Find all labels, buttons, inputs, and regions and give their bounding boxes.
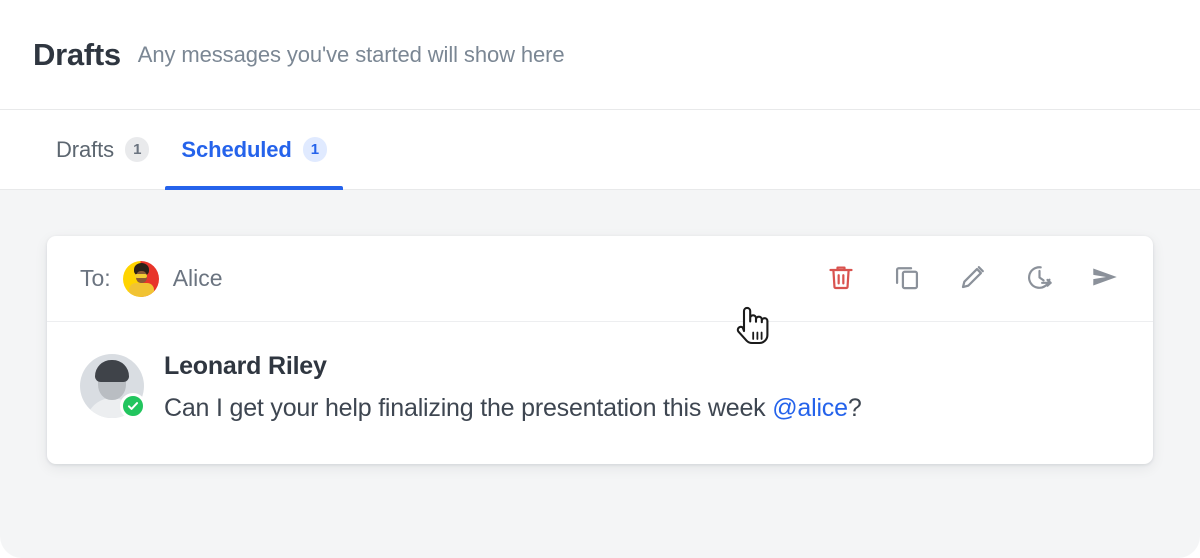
avatar-body bbox=[129, 283, 154, 297]
page-title: Drafts bbox=[33, 37, 121, 73]
delete-button[interactable] bbox=[823, 261, 859, 297]
tab-scheduled[interactable]: Scheduled 1 bbox=[165, 110, 343, 189]
tab-scheduled-label: Scheduled bbox=[181, 137, 291, 163]
avatar-sunglasses bbox=[135, 274, 147, 278]
card-header: To: Alice bbox=[47, 236, 1153, 322]
content-area: To: Alice bbox=[0, 190, 1200, 558]
card-body: Leonard Riley Can I get your help finali… bbox=[47, 322, 1153, 464]
delete-icon bbox=[827, 263, 855, 294]
app-window: Drafts Any messages you've started will … bbox=[0, 0, 1200, 558]
tab-scheduled-badge: 1 bbox=[303, 137, 327, 162]
sender-name: Leonard Riley bbox=[164, 352, 862, 381]
send-now-button[interactable] bbox=[1087, 261, 1123, 297]
avatar-alice bbox=[123, 261, 159, 297]
avatar-leonard-wrap bbox=[80, 354, 144, 418]
schedule-icon bbox=[1025, 263, 1054, 295]
message-column: Leonard Riley Can I get your help finali… bbox=[164, 350, 862, 424]
page-header: Drafts Any messages you've started will … bbox=[0, 0, 1200, 110]
edit-button[interactable] bbox=[955, 261, 991, 297]
mention-link[interactable]: @alice bbox=[772, 394, 848, 422]
send-icon bbox=[1090, 262, 1120, 295]
page-subtitle: Any messages you've started will show he… bbox=[138, 42, 565, 68]
status-badge-verified bbox=[120, 393, 146, 419]
copy-icon bbox=[893, 263, 921, 294]
tab-bar: Drafts 1 Scheduled 1 bbox=[0, 110, 1200, 190]
reschedule-button[interactable] bbox=[1021, 261, 1057, 297]
tab-drafts[interactable]: Drafts 1 bbox=[40, 110, 165, 189]
duplicate-button[interactable] bbox=[889, 261, 925, 297]
message-text-before: Can I get your help finalizing the prese… bbox=[164, 394, 772, 422]
tab-drafts-badge: 1 bbox=[125, 137, 149, 162]
tab-drafts-label: Drafts bbox=[56, 137, 114, 163]
to-label: To: bbox=[80, 265, 111, 292]
card-actions bbox=[823, 261, 1123, 297]
edit-icon bbox=[959, 263, 987, 294]
message-text: Can I get your help finalizing the prese… bbox=[164, 393, 862, 424]
message-text-after: ? bbox=[848, 394, 862, 422]
scheduled-message-card: To: Alice bbox=[47, 236, 1153, 464]
recipient-name: Alice bbox=[173, 265, 223, 292]
avatar-hair bbox=[95, 360, 129, 382]
